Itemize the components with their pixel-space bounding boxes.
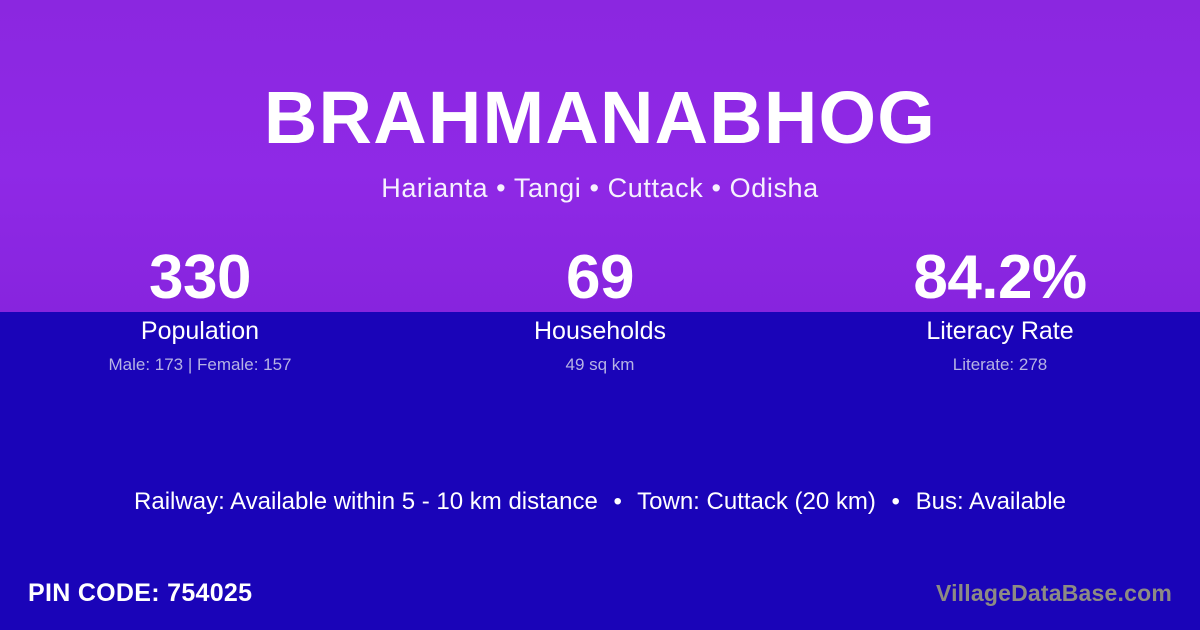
literacy-detail: Literate: 278 — [800, 354, 1200, 376]
amenity-separator-icon: • — [605, 486, 631, 518]
stats-row: 330 Population Male: 173 | Female: 157 6… — [0, 246, 1200, 376]
footer-row: PIN CODE: 754025 VillageDataBase.com — [0, 556, 1200, 630]
population-value: 330 — [0, 246, 400, 310]
amenities-line: Railway: Available within 5 - 10 km dist… — [0, 486, 1200, 518]
breadcrumb: Harianta • Tangi • Cuttack • Odisha — [0, 172, 1200, 204]
page-title: BRAHMANABHOG — [0, 78, 1200, 158]
amenity-town: Town: Cuttack (20 km) — [637, 488, 876, 515]
stat-card-population: 330 Population Male: 173 | Female: 157 — [0, 246, 400, 376]
households-label: Households — [400, 316, 800, 346]
stat-card-households: 69 Households 49 sq km — [400, 246, 800, 376]
population-label: Population — [0, 316, 400, 346]
households-detail: 49 sq km — [400, 354, 800, 376]
amenity-separator-icon: • — [883, 486, 909, 518]
heading-block: BRAHMANABHOG Harianta • Tangi • Cuttack … — [0, 78, 1200, 204]
population-detail: Male: 173 | Female: 157 — [0, 354, 400, 376]
pin-code-label: PIN CODE: 754025 — [28, 578, 252, 608]
literacy-value: 84.2% — [800, 246, 1200, 310]
amenity-railway: Railway: Available within 5 - 10 km dist… — [134, 488, 598, 515]
literacy-label: Literacy Rate — [800, 316, 1200, 346]
stat-card-literacy: 84.2% Literacy Rate Literate: 278 — [800, 246, 1200, 376]
amenity-bus: Bus: Available — [916, 488, 1066, 515]
village-info-card: BRAHMANABHOG Harianta • Tangi • Cuttack … — [0, 0, 1200, 630]
households-value: 69 — [400, 246, 800, 310]
site-brand-watermark: VillageDataBase.com — [936, 579, 1172, 607]
